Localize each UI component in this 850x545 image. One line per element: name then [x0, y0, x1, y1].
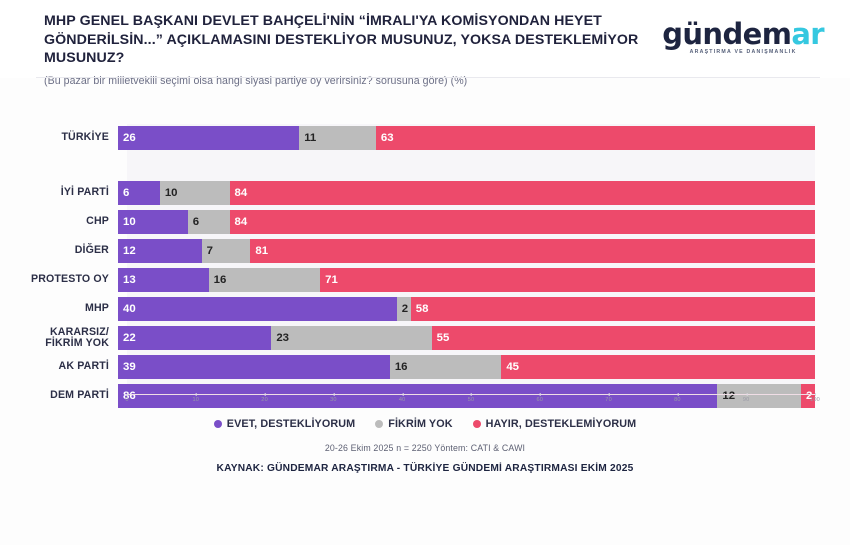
segment-value: 16: [209, 274, 227, 286]
segment-fikrim-yok: 2: [397, 297, 411, 321]
chart-footer: 20-26 Ekim 2025 n = 2250 Yöntem: CATI & …: [0, 443, 850, 474]
segment-hayir: 58: [411, 297, 815, 321]
segment-value: 84: [230, 187, 248, 199]
chart-row: İYİ PARTİ61084: [0, 181, 850, 205]
segment-hayir: 63: [376, 126, 815, 150]
chart-legend: EVET, DESTEKLİYORUMFİKRİM YOKHAYIR, DEST…: [0, 418, 850, 430]
segment-value: 63: [376, 132, 394, 144]
segment-fikrim-yok: 7: [202, 239, 251, 263]
segment-fikrim-yok: 10: [160, 181, 230, 205]
x-axis: 0102030405060708090100: [127, 394, 815, 410]
chart-row: AK PARTİ391645: [0, 355, 850, 379]
row-label: İYİ PARTİ: [0, 187, 118, 198]
poll-chart-page: MHP GENEL BAŞKANI DEVLET BAHÇELİ'NİN “İM…: [0, 0, 850, 545]
header-divider: [36, 77, 820, 78]
bar-track: 12781: [118, 239, 815, 263]
x-axis-tick-label: 50: [468, 397, 475, 403]
bar-track: 61084: [118, 181, 815, 205]
legend-item[interactable]: HAYIR, DESTEKLEMİYORUM: [473, 418, 637, 430]
row-label-line: FİKRİM YOK: [0, 338, 109, 349]
row-label: PROTESTO OY: [0, 274, 118, 285]
chart-header: MHP GENEL BAŞKANI DEVLET BAHÇELİ'NİN “İM…: [0, 0, 850, 78]
row-label: DİĞER: [0, 245, 118, 256]
row-label-line: İYİ PARTİ: [0, 187, 109, 198]
chart-row: CHP10684: [0, 210, 850, 234]
segment-evet: 40: [118, 297, 397, 321]
page-title: MHP GENEL BAŞKANI DEVLET BAHÇELİ'NİN “İM…: [44, 12, 669, 68]
x-axis-tick-label: 70: [605, 397, 612, 403]
segment-value: 71: [320, 274, 338, 286]
legend-color-swatch-icon: [473, 420, 481, 428]
source-note: KAYNAK: GÜNDEMAR ARAŞTIRMA - TÜRKİYE GÜN…: [0, 463, 850, 474]
segment-value: 23: [271, 332, 289, 344]
segment-hayir: 84: [230, 210, 815, 234]
segment-evet: 6: [118, 181, 160, 205]
segment-value: 16: [390, 361, 408, 373]
bar-track: 261163: [118, 126, 815, 150]
segment-value: 39: [118, 361, 136, 373]
segment-evet: 13: [118, 268, 209, 292]
bar-track: 222355: [118, 326, 815, 350]
logo-main-text: gündem: [662, 17, 791, 51]
methodology-note: 20-26 Ekim 2025 n = 2250 Yöntem: CATI & …: [0, 443, 850, 453]
segment-hayir: 71: [320, 268, 815, 292]
bar-track: 131671: [118, 268, 815, 292]
legend-label: EVET, DESTEKLİYORUM: [227, 418, 355, 430]
segment-value: 55: [432, 332, 450, 344]
row-label-line: AK PARTİ: [0, 361, 109, 372]
segment-evet: 26: [118, 126, 299, 150]
row-label-line: TÜRKİYE: [0, 132, 109, 143]
chart-row: KARARSIZ/FİKRİM YOK222355: [0, 326, 850, 350]
segment-value: 12: [118, 245, 136, 257]
segment-value: 84: [230, 216, 248, 228]
row-label-line: PROTESTO OY: [0, 274, 109, 285]
segment-value: 11: [299, 132, 316, 144]
row-label: DEM PARTİ: [0, 390, 118, 401]
row-label-line: DİĞER: [0, 245, 109, 256]
legend-label: HAYIR, DESTEKLEMİYORUM: [486, 418, 637, 430]
segment-fikrim-yok: 16: [209, 268, 321, 292]
segment-fikrim-yok: 6: [188, 210, 230, 234]
legend-color-swatch-icon: [375, 420, 383, 428]
segment-value: 6: [188, 216, 199, 228]
legend-item[interactable]: FİKRİM YOK: [375, 418, 452, 430]
segment-value: 81: [250, 245, 268, 257]
segment-value: 6: [118, 187, 129, 199]
x-axis-tick-label: 0: [125, 397, 128, 403]
x-axis-tick-label: 90: [743, 397, 750, 403]
segment-fikrim-yok: 16: [390, 355, 502, 379]
segment-hayir: 55: [432, 326, 815, 350]
segment-value: 2: [397, 303, 408, 315]
segment-evet: 10: [118, 210, 188, 234]
row-label: MHP: [0, 303, 118, 314]
row-label-line: CHP: [0, 216, 109, 227]
segment-fikrim-yok: 23: [271, 326, 431, 350]
segment-hayir: 84: [230, 181, 815, 205]
x-axis-tick-label: 10: [192, 397, 199, 403]
segment-value: 10: [160, 187, 178, 199]
bar-track: 10684: [118, 210, 815, 234]
chart-row: PROTESTO OY131671: [0, 268, 850, 292]
x-axis-tick-label: 40: [399, 397, 406, 403]
row-label: CHP: [0, 216, 118, 227]
segment-value: 45: [501, 361, 519, 373]
segment-value: 7: [202, 245, 213, 257]
x-axis-tick-label: 100: [810, 397, 820, 403]
segment-evet: 39: [118, 355, 390, 379]
x-axis-tick-label: 30: [330, 397, 337, 403]
brand-logo: gündemar ARAŞTIRMA VE DANIŞMANLIK: [662, 20, 824, 55]
row-label: AK PARTİ: [0, 361, 118, 372]
legend-color-swatch-icon: [214, 420, 222, 428]
x-axis-tick-label: 60: [536, 397, 543, 403]
segment-value: 10: [118, 216, 136, 228]
chart-row: TÜRKİYE261163: [0, 126, 850, 150]
legend-label: FİKRİM YOK: [388, 418, 452, 430]
legend-item[interactable]: EVET, DESTEKLİYORUM: [214, 418, 355, 430]
segment-value: 26: [118, 132, 136, 144]
segment-value: 58: [411, 303, 429, 315]
logo-wordmark: gündemar: [662, 20, 824, 49]
segment-fikrim-yok: 11: [299, 126, 376, 150]
segment-value: 40: [118, 303, 136, 315]
row-label-line: MHP: [0, 303, 109, 314]
segment-evet: 22: [118, 326, 271, 350]
x-axis-tick-label: 20: [261, 397, 268, 403]
row-label: TÜRKİYE: [0, 132, 118, 143]
segment-value: 13: [118, 274, 136, 286]
x-axis-tick-label: 80: [674, 397, 681, 403]
segment-hayir: 45: [501, 355, 815, 379]
row-label: KARARSIZ/FİKRİM YOK: [0, 327, 118, 350]
bar-track: 391645: [118, 355, 815, 379]
logo-accent-text: ar: [791, 17, 824, 51]
chart-row: DİĞER12781: [0, 239, 850, 263]
chart-row: MHP40258: [0, 297, 850, 321]
stacked-bar-chart: TÜRKİYE261163İYİ PARTİ61084CHP10684DİĞER…: [0, 84, 850, 414]
segment-hayir: 81: [250, 239, 815, 263]
segment-value: 22: [118, 332, 136, 344]
row-label-line: DEM PARTİ: [0, 390, 109, 401]
bar-track: 40258: [118, 297, 815, 321]
segment-evet: 12: [118, 239, 202, 263]
